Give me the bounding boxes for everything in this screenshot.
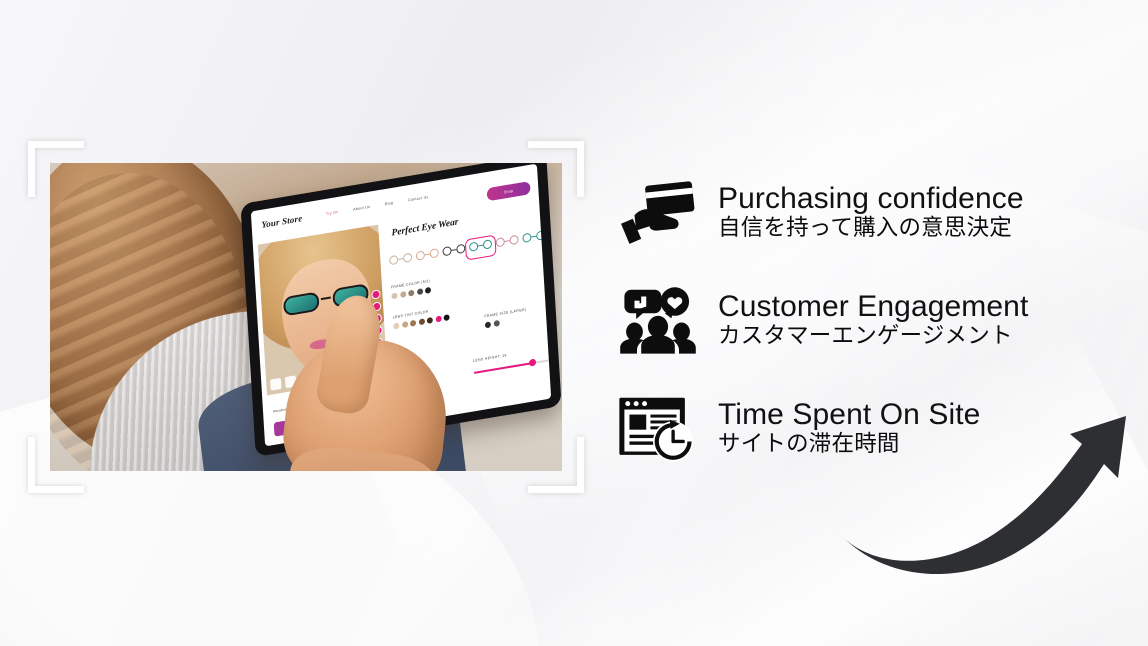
nav-item-blog[interactable]: Blog — [385, 201, 394, 206]
frame-size-swatches[interactable] — [485, 320, 500, 328]
frame-option[interactable] — [496, 234, 519, 251]
frame-color-swatches[interactable] — [391, 287, 431, 300]
browser-clock-icon — [612, 387, 704, 469]
benefit-title-en: Purchasing confidence — [718, 183, 1124, 215]
benefit-title-ja: カスタマーエンゲージメント — [718, 323, 1124, 350]
benefit-text: Customer Engagement カスタマーエンゲージメント — [718, 291, 1124, 350]
frame-option[interactable] — [416, 248, 439, 265]
benefit-title-ja: 自信を持って購入の意思決定 — [718, 215, 1124, 242]
swatch[interactable] — [400, 291, 406, 298]
frame-size-label: FRAME SIZE (LARGE) — [484, 307, 526, 318]
store-logo[interactable]: Your Store — [261, 213, 302, 230]
upward-growth-arrow — [838, 410, 1138, 580]
hand-credit-card-icon — [612, 171, 704, 253]
nav-item-about-us[interactable]: About Us — [353, 205, 370, 212]
benefit-item-purchasing-confidence: Purchasing confidence 自信を持って購入の意思決定 — [612, 158, 1124, 266]
woman-using-tablet-photo: Your Store Try On About Us Blog Contact … — [50, 163, 562, 471]
people-engagement-icon — [612, 279, 704, 361]
store-nav: Try On About Us Blog Contact Us — [326, 195, 429, 216]
frame-option[interactable] — [522, 230, 545, 247]
photo-scene: Your Store Try On About Us Blog Contact … — [50, 163, 562, 471]
benefit-text: Purchasing confidence 自信を持って購入の意思決定 — [718, 183, 1124, 242]
frame-option[interactable] — [389, 252, 412, 269]
frame-option[interactable] — [442, 243, 465, 260]
shop-button-label: Shop — [504, 188, 514, 194]
swatch[interactable] — [493, 320, 499, 327]
slide-canvas: Your Store Try On About Us Blog Contact … — [0, 0, 1148, 646]
nav-item-contact-us[interactable]: Contact Us — [408, 195, 429, 202]
slider-knob[interactable] — [529, 358, 536, 366]
nav-item-try-on[interactable]: Try On — [326, 210, 339, 216]
benefit-title-en: Customer Engagement — [718, 291, 1124, 323]
photo-frame-block: Your Store Try On About Us Blog Contact … — [28, 141, 584, 493]
slider-fill — [474, 362, 533, 373]
swatch[interactable] — [485, 321, 491, 328]
pointing-hand — [278, 299, 454, 471]
swatch[interactable] — [425, 287, 431, 294]
lens-height-label: LENS HEIGHT: 19 — [473, 353, 507, 363]
frame-option-selected[interactable] — [469, 239, 492, 256]
swatch[interactable] — [416, 288, 422, 295]
swatch[interactable] — [408, 290, 414, 297]
benefit-item-customer-engagement: Customer Engagement カスタマーエンゲージメント — [612, 266, 1124, 374]
